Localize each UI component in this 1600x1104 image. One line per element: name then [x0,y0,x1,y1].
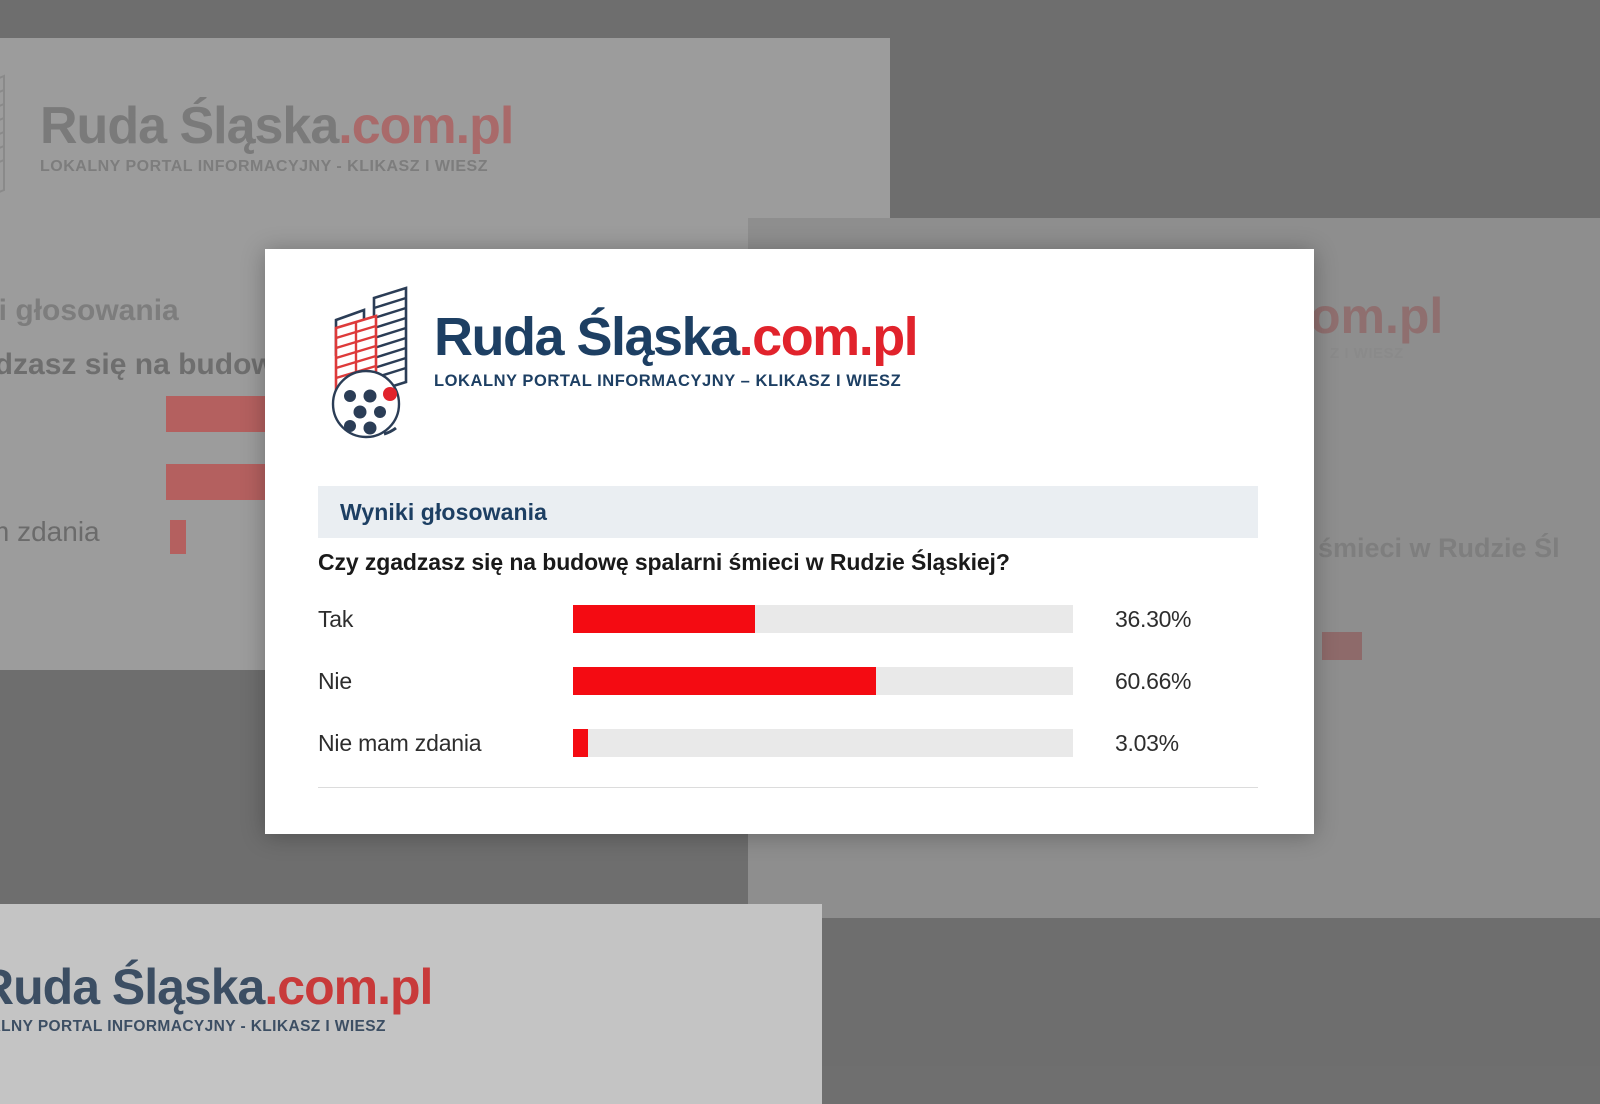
poll-percent: 60.66% [1073,668,1258,695]
poll-row: Nie mam zdania 3.03% [318,712,1258,774]
background-bottom-title-accent: .com.pl [264,959,432,1015]
poll-row: Tak 36.30% [318,588,1258,650]
poll-bar-track [573,667,1073,695]
background-logo-top: Ruda Śląska.com.pl LOKALNY PORTAL INFORM… [40,100,513,175]
poll-option-label: Nie [318,668,573,695]
logo-title-dark: Ruda Śląska [434,307,739,367]
background-logo-bottom: Ruda Śląska.com.pl KALNY PORTAL INFORMAC… [0,962,432,1035]
background-question: adzasz się na budow [0,348,275,382]
background-logo-title-accent: .com.pl [338,97,513,155]
background-right-tagline: Z I WIESZ [1330,345,1404,362]
buildings-circle-logo-icon [318,284,418,444]
poll-percent: 36.30% [1073,606,1258,633]
site-logo[interactable]: Ruda Śląska.com.pl LOKALNY PORTAL INFORM… [318,284,917,444]
background-bottom-tagline: KALNY PORTAL INFORMACYJNY - KLIKASZ I WI… [0,1019,432,1035]
background-logo-title-dark: Ruda Śląska [40,97,338,155]
poll-option-label: Tak [318,606,573,633]
poll-results-modal: Ruda Śląska.com.pl LOKALNY PORTAL INFORM… [265,249,1314,834]
background-bar-3 [170,520,186,554]
results-header-title: Wyniki głosowania [340,499,547,526]
background-bottom-title-dark: Ruda Śląska [0,959,264,1015]
logo-tagline: LOKALNY PORTAL INFORMACYJNY – KLIKASZ I … [434,372,917,391]
poll-row: Nie 60.66% [318,650,1258,712]
logo-text: Ruda Śląska.com.pl LOKALNY PORTAL INFORM… [434,284,917,391]
logo-title: Ruda Śląska.com.pl [434,310,917,364]
poll-divider [318,787,1258,788]
background-option-label: m zdania [0,516,100,548]
results-header-bar: Wyniki głosowania [318,486,1258,538]
poll-bar-track [573,729,1073,757]
poll-bar-fill [573,605,755,633]
background-logo-mark-icon [0,72,18,222]
poll-bar-fill [573,729,588,757]
background-results-title: ki głosowania [0,294,179,328]
logo-title-accent: .com.pl [739,307,918,367]
background-right-question: śmieci w Rudzie Śl [1318,533,1560,564]
poll-percent: 3.03% [1073,730,1258,757]
poll-option-label: Nie mam zdania [318,730,573,757]
background-right-bar [1322,632,1362,660]
poll-results: Czy zgadzasz się na budowę spalarni śmie… [318,549,1258,774]
poll-bar-fill [573,667,876,695]
background-right-brand: om.pl [1310,287,1443,345]
poll-question: Czy zgadzasz się na budowę spalarni śmie… [318,549,1258,576]
background-logo-tagline: LOKALNY PORTAL INFORMACYJNY - KLIKASZ I … [40,159,513,175]
poll-bar-track [573,605,1073,633]
